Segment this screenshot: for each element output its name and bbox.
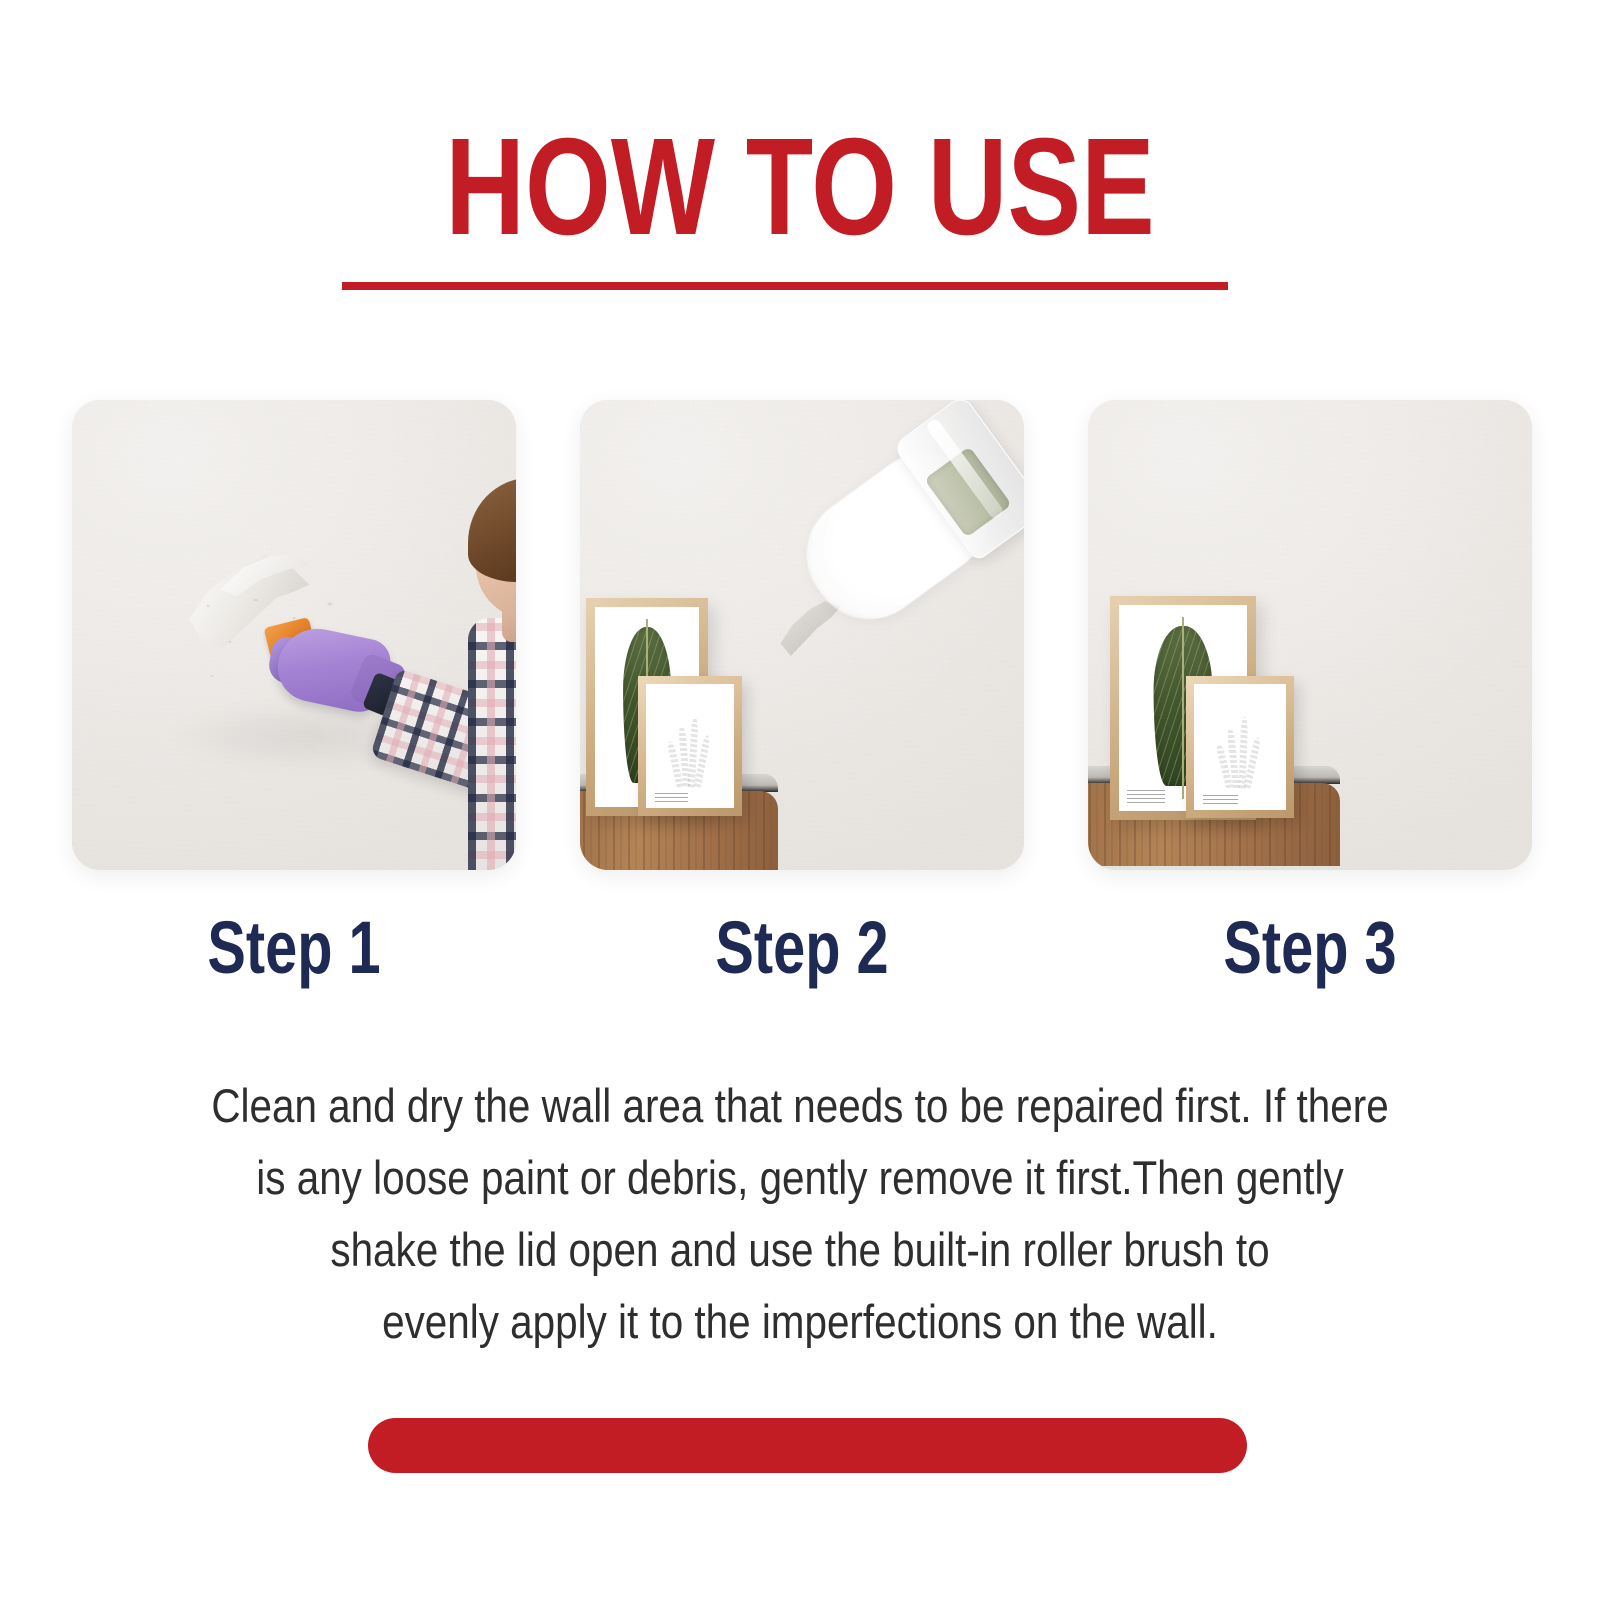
step-label-row: Step 1 Step 2 Step 3	[72, 902, 1532, 994]
step-3-image	[1088, 400, 1532, 870]
instructions-paragraph: Clean and dry the wall area that needs t…	[164, 1070, 1437, 1358]
page-header: HOW TO USE	[0, 118, 1600, 256]
instructions-line: Clean and dry the wall area that needs t…	[164, 1070, 1437, 1142]
step-1-label: Step 1	[121, 902, 467, 994]
frame-caption-lines	[1127, 788, 1165, 802]
step-1-image	[72, 400, 516, 870]
leaf-midrib	[1182, 617, 1184, 798]
page-title: HOW TO USE	[160, 118, 1440, 256]
snake-plant-frame-icon	[638, 676, 742, 816]
step-2-label: Step 2	[629, 902, 975, 994]
frame-mat	[1194, 684, 1286, 810]
instructions-line: shake the lid open and use the built-in …	[164, 1214, 1437, 1286]
instructions-line: evenly apply it to the imperfections on …	[164, 1286, 1437, 1358]
snake-plant-frame-icon	[1186, 676, 1294, 818]
step-3-label: Step 3	[1137, 902, 1483, 994]
frame-mat	[646, 684, 734, 808]
instructions-line: is any loose paint or debris, gently rem…	[164, 1142, 1437, 1214]
step-image-row	[72, 400, 1532, 870]
snake-plant-art-icon	[670, 714, 710, 788]
footer-accent-bar	[368, 1418, 1247, 1473]
frame-caption-lines	[655, 791, 688, 802]
snake-plant-art-icon	[1219, 714, 1261, 790]
title-underline-rule	[342, 282, 1228, 290]
step-2-image	[580, 400, 1024, 870]
frame-caption-lines	[1203, 792, 1238, 803]
plaid-shirt-icon	[468, 618, 516, 870]
